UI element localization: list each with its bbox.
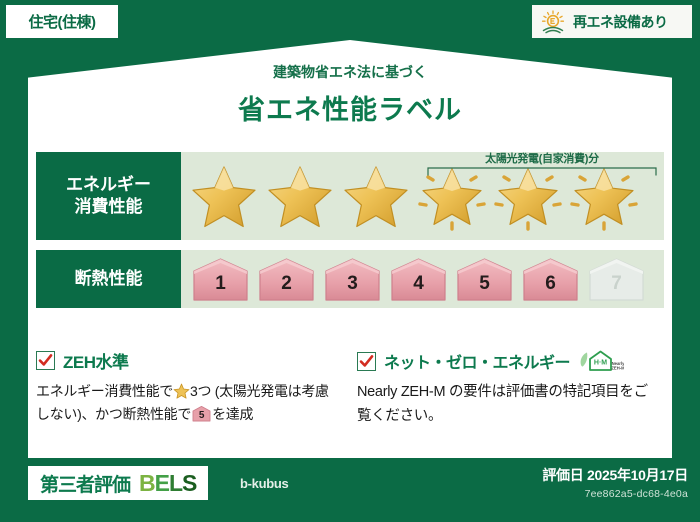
criterion-nze-header: ネット・ゼロ・エネルギー H·M Nearly ZEH-M [357,348,650,374]
insulation-level-5: 5 [453,256,516,302]
insulation-level-7: 7 [585,256,648,302]
bels-logo: BELS [139,470,196,497]
insulation-level-1: 1 [189,256,252,302]
evaluation-info: 評価日 2025年10月17日 7ee862a5-dc68-4e0a [542,465,688,500]
checkbox-zeh [36,351,55,370]
insulation-level-6-number: 6 [519,273,582,295]
criterion-zeh-text-1: エネルギー消費性能で [36,383,173,399]
inline-house-level: 5 [191,408,212,425]
bels-letter-e: E [155,470,169,496]
star-5-solar [491,161,565,231]
criterion-zeh-body: エネルギー消費性能で3つ (太陽光発電は考慮しない)、かつ断熱性能で5を達成 [36,380,329,426]
insulation-level-3-number: 3 [321,273,384,295]
category-tag: 住宅(住棟) [6,5,118,38]
bels-letter-s: S [182,470,196,496]
evaluation-uid: 7ee862a5-dc68-4e0a [542,488,688,500]
star-3 [339,161,413,231]
insulation-level-7-number: 7 [585,273,648,295]
bels-jp-label: 第三者評価 [40,470,130,497]
star-6-solar [567,161,641,231]
label-main-title: 省エネ性能ラベル [0,88,700,127]
insulation-level-5-number: 5 [453,273,516,295]
criterion-nze-body: Nearly ZEH-M の要件は評価書の特記項目をご覧ください。 [357,381,650,429]
check-icon [38,353,53,368]
row-label-insulation-text: 断熱性能 [75,268,143,290]
label-subtitle: 建築物省エネ法に基づく [0,62,700,82]
insulation-levels: 1 2 3 4 5 [181,256,648,302]
criterion-zeh-header: ZEH水準 [36,348,329,373]
vendor-name: b-kubus [240,476,288,491]
insulation-level-4: 4 [387,256,450,302]
footer: 第三者評価 BELS b-kubus 評価日 2025年10月17日 7ee86… [0,458,700,522]
renewable-badge-label: 再エネ設備あり [573,12,668,32]
energy-performance-label: 住宅(住棟) 再エネ設備あり 建築物省エネ法に基づく 省エネ性能ラベル [0,0,700,522]
row-label-energy-line2: 消費性能 [75,196,143,218]
inline-house-badge: 5 [191,405,212,422]
renewable-energy-badge: 再エネ設備あり [532,5,692,38]
insulation-level-6: 6 [519,256,582,302]
evaluation-date: 評価日 2025年10月17日 [542,465,688,485]
row-insulation-performance: 断熱性能 1 2 3 [36,250,664,308]
criterion-zeh: ZEH水準 エネルギー消費性能で3つ (太陽光発電は考慮しない)、かつ断熱性能で… [36,348,343,429]
check-icon [359,354,374,369]
title-block: 建築物省エネ法に基づく 省エネ性能ラベル [0,62,700,127]
bels-letter-l: L [169,470,182,496]
zeh-m-logo-sub2: ZEH-M [611,365,624,370]
zeh-m-house-logo-icon: H·M Nearly ZEH-M [578,348,624,374]
performance-rows: エネルギー 消費性能 [36,152,664,318]
star-rating [181,161,641,231]
insulation-level-4-number: 4 [387,273,450,295]
zeh-m-logo-main: H·M [594,359,607,366]
insulation-level-1-number: 1 [189,273,252,295]
row-label-energy: エネルギー 消費性能 [36,152,181,240]
row-body-insulation: 1 2 3 4 5 [181,250,664,308]
row-energy-performance: エネルギー 消費性能 [36,152,664,240]
insulation-level-2: 2 [255,256,318,302]
solar-sun-icon [540,10,566,34]
insulation-level-2-number: 2 [255,273,318,295]
criterion-zeh-title: ZEH水準 [63,348,129,373]
inline-star-icon [173,383,190,399]
criteria-section: ZEH水準 エネルギー消費性能で3つ (太陽光発電は考慮しない)、かつ断熱性能で… [36,348,664,429]
row-label-insulation: 断熱性能 [36,250,181,308]
bels-certification-box: 第三者評価 BELS [28,466,208,500]
criterion-zeh-text-3: を達成 [212,406,253,422]
row-label-energy-line1: エネルギー [66,174,151,196]
checkbox-net-zero-energy [357,352,376,371]
criterion-net-zero-energy: ネット・ゼロ・エネルギー H·M Nearly ZEH-M Nearly ZEH… [343,348,664,429]
criterion-nze-title: ネット・ゼロ・エネルギー [384,349,570,373]
star-4-solar [415,161,489,231]
star-2 [263,161,337,231]
bels-letter-b: B [139,470,155,496]
insulation-level-3: 3 [321,256,384,302]
star-1 [187,161,261,231]
row-body-energy: 太陽光発電(自家消費)分 [181,152,664,240]
